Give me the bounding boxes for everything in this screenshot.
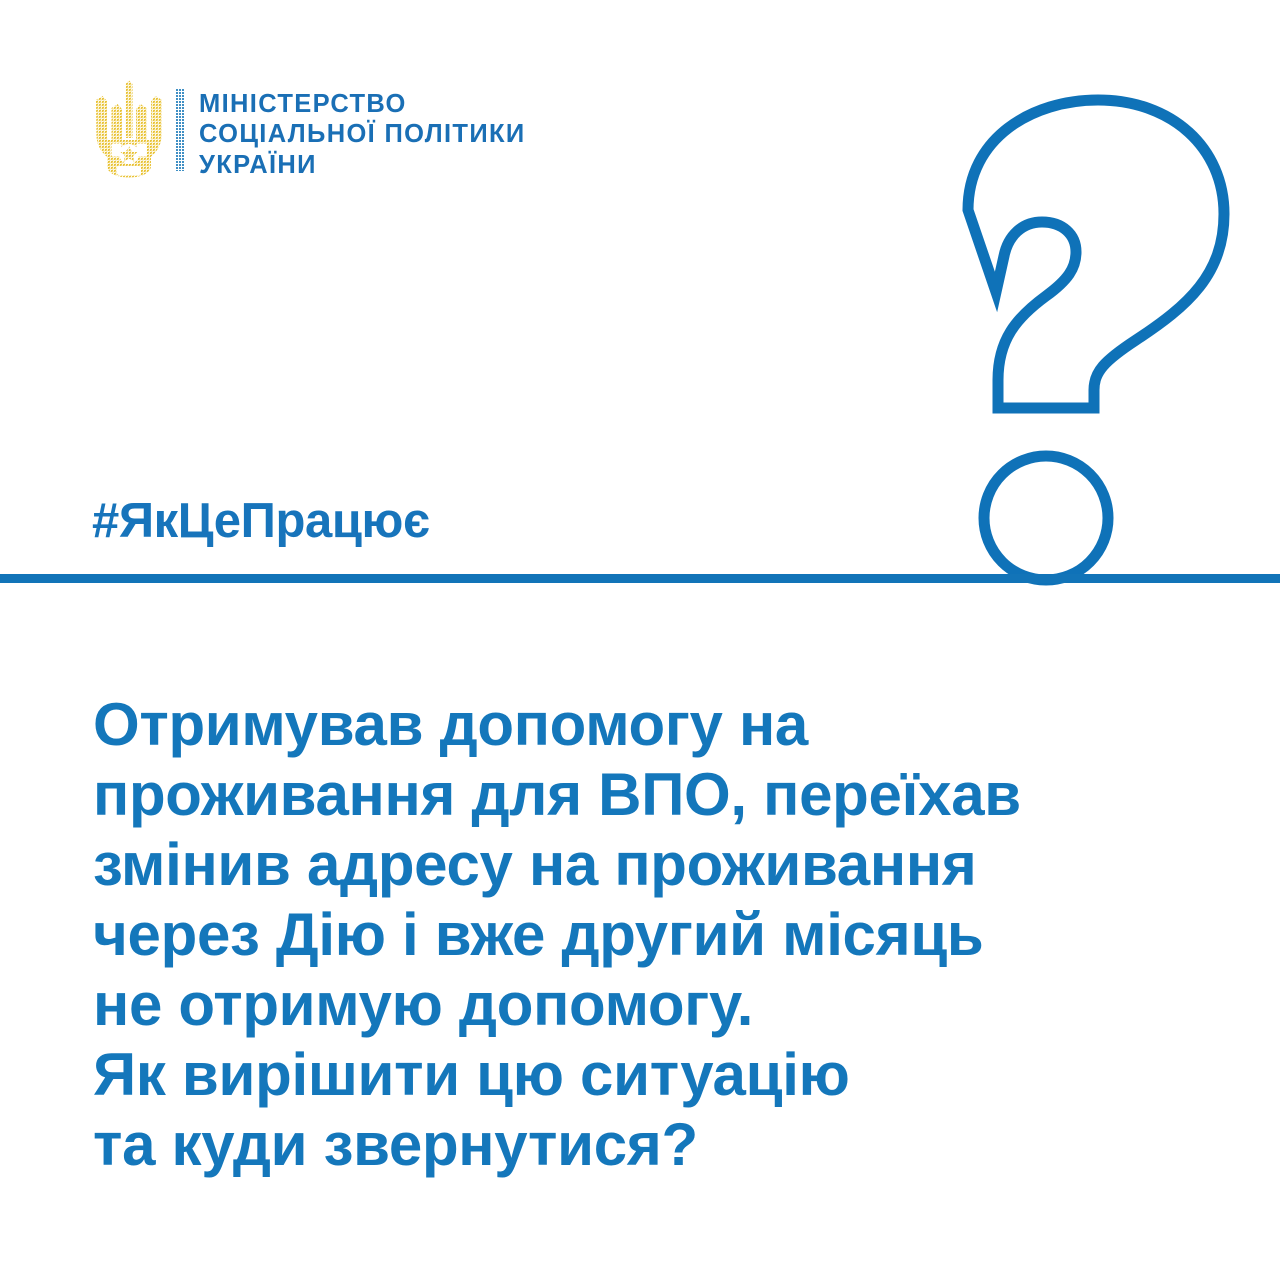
logo-line-3: УКРАЇНИ [199, 151, 526, 179]
ministry-logo-text: МІНІСТЕРСТВО СОЦІАЛЬНОЇ ПОЛІТИКИ УКРАЇНИ [199, 90, 526, 179]
question-line-7: та куди звернутися? [93, 1110, 1213, 1180]
logo-dotted-divider [176, 89, 185, 171]
question-line-5: не отримую допомогу. [93, 970, 1213, 1040]
horizontal-divider-rule [0, 574, 1280, 583]
question-line-1: Отримував допомогу на [93, 690, 1213, 760]
question-line-2: проживання для ВПО, переїхав [93, 760, 1213, 830]
hashtag-label[interactable]: #ЯкЦеПрацює [92, 497, 430, 546]
ministry-logo[interactable]: МІНІСТЕРСТВО СОЦІАЛЬНОЇ ПОЛІТИКИ УКРАЇНИ [93, 80, 526, 179]
question-line-4: через Дію і вже другий місяць [93, 900, 1213, 970]
question-line-3: змінив адресу на проживання [93, 830, 1213, 900]
logo-line-1: МІНІСТЕРСТВО [199, 90, 526, 118]
ukraine-trident-emblem [93, 80, 165, 178]
question-text-block: Отримував допомогу на проживання для ВПО… [93, 690, 1213, 1180]
question-line-6: Як вирішити цю ситуацію [93, 1040, 1213, 1110]
logo-line-2: СОЦІАЛЬНОЇ ПОЛІТИКИ [199, 120, 526, 148]
poster-canvas: МІНІСТЕРСТВО СОЦІАЛЬНОЇ ПОЛІТИКИ УКРАЇНИ… [0, 0, 1280, 1280]
question-mark-outline-icon [846, 78, 1246, 608]
